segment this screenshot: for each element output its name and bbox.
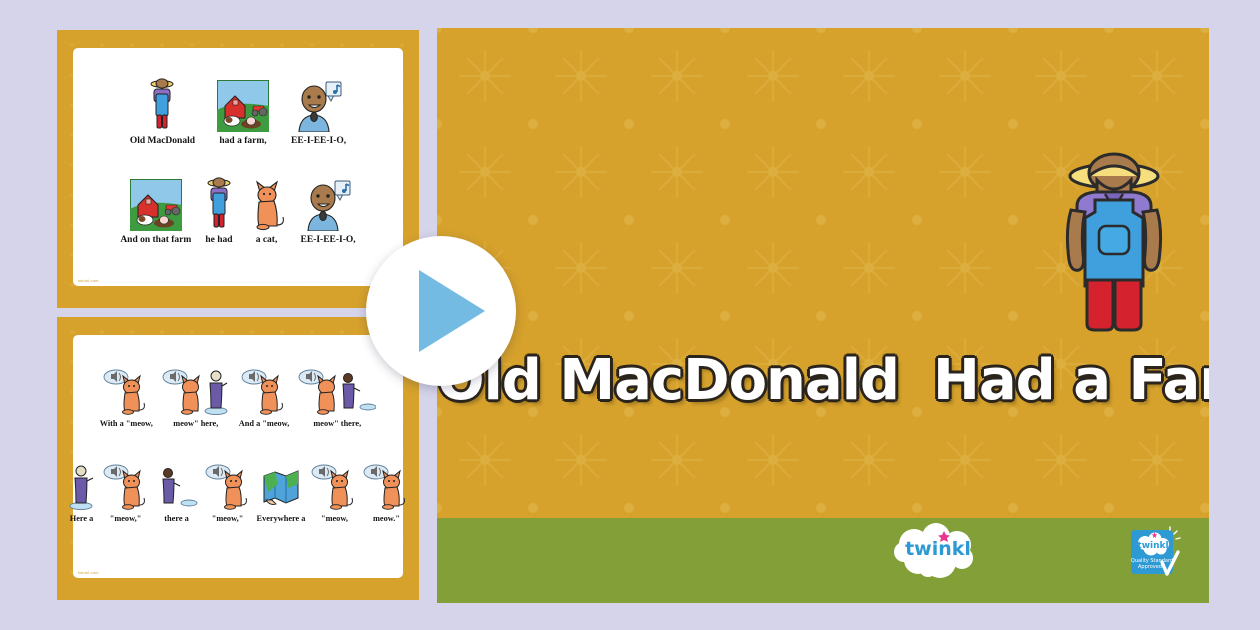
person-there-icon — [155, 460, 199, 510]
symbol-cell: "meow," — [205, 460, 251, 523]
cat-sound-icon — [103, 460, 149, 510]
symbol-cell: "meow, — [311, 460, 357, 523]
cat-sound-icon — [103, 365, 149, 415]
slide-footer-bar — [437, 518, 1209, 603]
symbol-cell: With a "meow, — [100, 365, 153, 428]
page-title: Old MacDonaldHad a Farm — [437, 348, 1209, 413]
person-singing-icon — [304, 173, 352, 231]
symbol-label: had a farm, — [219, 136, 266, 146]
symbol-label: And a "meow, — [239, 419, 289, 428]
cat-sound-icon — [311, 460, 357, 510]
symbol-label: meow" here, — [173, 419, 218, 428]
symbol-cell: he had — [205, 173, 232, 245]
person-here-icon — [67, 460, 97, 510]
cat-sound-here-icon — [162, 365, 230, 415]
symbol-cell: EE-I-EE-I-O, — [301, 173, 356, 245]
symbol-label: a cat, — [256, 235, 278, 245]
slide-thumbnail-1[interactable]: Old MacDonald — [57, 30, 419, 308]
symbol-cell: meow" there, — [298, 365, 376, 428]
twinkl-logo: twinkl — [892, 522, 984, 583]
symbol-label: Everywhere a — [257, 514, 306, 523]
symbol-label: With a "meow, — [100, 419, 153, 428]
symbol-cell: Old MacDonald — [130, 74, 195, 146]
symbol-label: "meow," — [110, 514, 142, 523]
symbol-cell: meow" here, — [162, 365, 230, 428]
copyright-text: twinkl.com — [78, 278, 99, 283]
symbol-cell: And on that farm — [120, 173, 191, 245]
farmer-icon — [206, 173, 232, 231]
cat-sound-icon — [205, 460, 251, 510]
screen: Old MacDonald — [0, 0, 1260, 630]
map-everywhere-icon — [258, 460, 304, 510]
symbol-label: there a — [164, 514, 189, 523]
farmer-illustration — [1055, 150, 1173, 340]
symbol-label: meow" there, — [313, 419, 361, 428]
twinkl-logo-text: twinkl — [905, 538, 971, 560]
symbol-cell: had a farm, — [217, 74, 269, 146]
symbol-cell: And a "meow, — [239, 365, 289, 428]
quality-standard-approved-badge: twinkl Quality Standard Approved — [1129, 526, 1181, 585]
symbol-label: Here a — [70, 514, 94, 523]
symbol-cell: Here a — [67, 460, 97, 523]
thumbnail-card: With a "meow, — [73, 335, 403, 578]
copyright-text: twinkl.com — [78, 570, 99, 575]
symbol-cell: Everywhere a — [257, 460, 306, 523]
play-triangle-icon — [419, 270, 485, 352]
cat-sound-there-icon — [298, 365, 376, 415]
slide-thumbnail-2[interactable]: With a "meow, — [57, 317, 419, 600]
symbol-cell: there a — [155, 460, 199, 523]
symbol-label: he had — [205, 235, 232, 245]
person-singing-icon — [295, 74, 343, 132]
symbol-label: EE-I-EE-I-O, — [291, 136, 346, 146]
farm-scene-icon — [217, 74, 269, 132]
badge-brand-text: twinkl — [1137, 541, 1168, 551]
title-part-2: Had a Farm — [933, 348, 1209, 413]
main-slide-preview[interactable]: Old MacDonaldHad a Farm twinkl — [437, 28, 1209, 603]
play-video-button[interactable] — [366, 236, 516, 386]
symbol-label: And on that farm — [120, 235, 191, 245]
cat-sound-icon — [363, 460, 409, 510]
title-part-1: Old MacDonald — [437, 348, 899, 413]
cat-sound-icon — [241, 365, 287, 415]
symbol-label: "meow, — [321, 514, 348, 523]
symbol-cell: a cat, — [247, 173, 287, 245]
symbol-label: Old MacDonald — [130, 136, 195, 146]
symbol-label: meow." — [373, 514, 400, 523]
thumbnail-card: Old MacDonald — [73, 48, 403, 286]
symbol-cell: "meow," — [103, 460, 149, 523]
cat-icon — [247, 173, 287, 231]
symbol-cell: meow." — [363, 460, 409, 523]
farm-scene-icon — [130, 173, 182, 231]
badge-line-2: Approved — [1138, 564, 1162, 570]
symbol-label: "meow," — [212, 514, 244, 523]
symbol-label: EE-I-EE-I-O, — [301, 235, 356, 245]
farmer-icon — [149, 74, 175, 132]
symbol-cell: EE-I-EE-I-O, — [291, 74, 346, 146]
